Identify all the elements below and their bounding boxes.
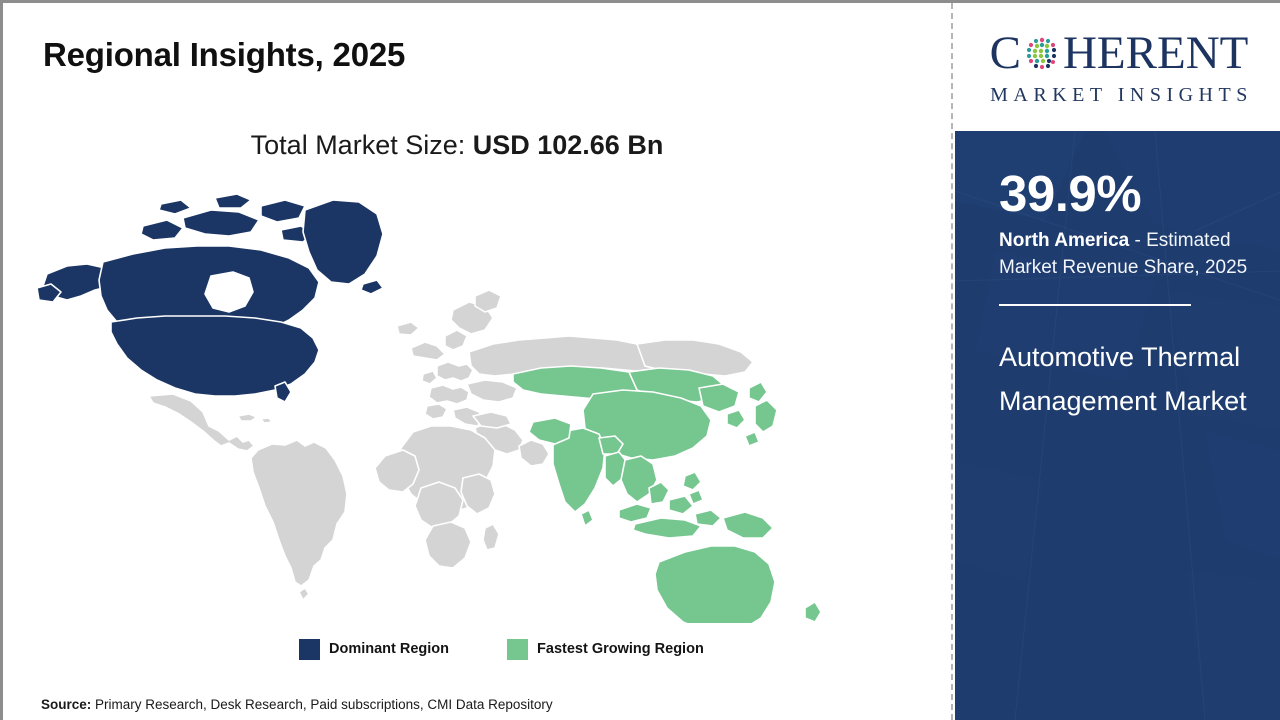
vertical-dashed-divider: [951, 3, 953, 720]
logo-wordmark: C: [990, 28, 1249, 80]
source-note: Source: Primary Research, Desk Research,…: [41, 697, 553, 712]
total-market-size: Total Market Size: USD 102.66 Bn: [3, 130, 911, 161]
legend-item-fastest-growing: Fastest Growing Region: [507, 639, 704, 660]
source-label: Source:: [41, 697, 91, 712]
market-share-percentage: 39.9%: [999, 167, 1265, 220]
market-share-description: North America - Estimated Market Revenue…: [999, 228, 1265, 282]
stats-panel-content: 39.9% North America - Estimated Market R…: [999, 167, 1265, 423]
market-name: Automotive Thermal Management Market: [999, 336, 1249, 423]
page-title: Regional Insights, 2025: [43, 36, 405, 74]
source-text: Primary Research, Desk Research, Paid su…: [91, 697, 552, 712]
market-size-value: USD 102.66 Bn: [473, 130, 664, 160]
left-panel: Regional Insights, 2025 Total Market Siz…: [3, 3, 951, 720]
logo-subtitle: MARKET INSIGHTS: [990, 84, 1253, 107]
map-dominant-regions: [37, 194, 383, 402]
legend-item-dominant: Dominant Region: [299, 639, 449, 660]
market-size-label: Total Market Size:: [251, 130, 473, 160]
map-fastest-growing-regions: [513, 366, 829, 623]
region-name: North America: [999, 230, 1129, 251]
brand-logo: C: [955, 3, 1280, 131]
legend-label-fastest-growing: Fastest Growing Region: [537, 642, 704, 657]
world-map-container: [33, 188, 893, 623]
legend-swatch-fastest-growing: [507, 639, 528, 660]
map-legend: Dominant Region Fastest Growing Region: [299, 639, 704, 660]
stats-panel: 39.9% North America - Estimated Market R…: [955, 131, 1280, 720]
world-map: [33, 188, 893, 623]
dotted-globe-icon: [1022, 34, 1062, 74]
logo-letter-c: C: [990, 30, 1021, 77]
legend-label-dominant: Dominant Region: [329, 642, 449, 657]
logo-letters-rest: HERENT: [1063, 30, 1248, 77]
panel-divider-rule: [999, 304, 1191, 306]
legend-swatch-dominant: [299, 639, 320, 660]
infographic-root: Regional Insights, 2025 Total Market Siz…: [0, 0, 1280, 720]
